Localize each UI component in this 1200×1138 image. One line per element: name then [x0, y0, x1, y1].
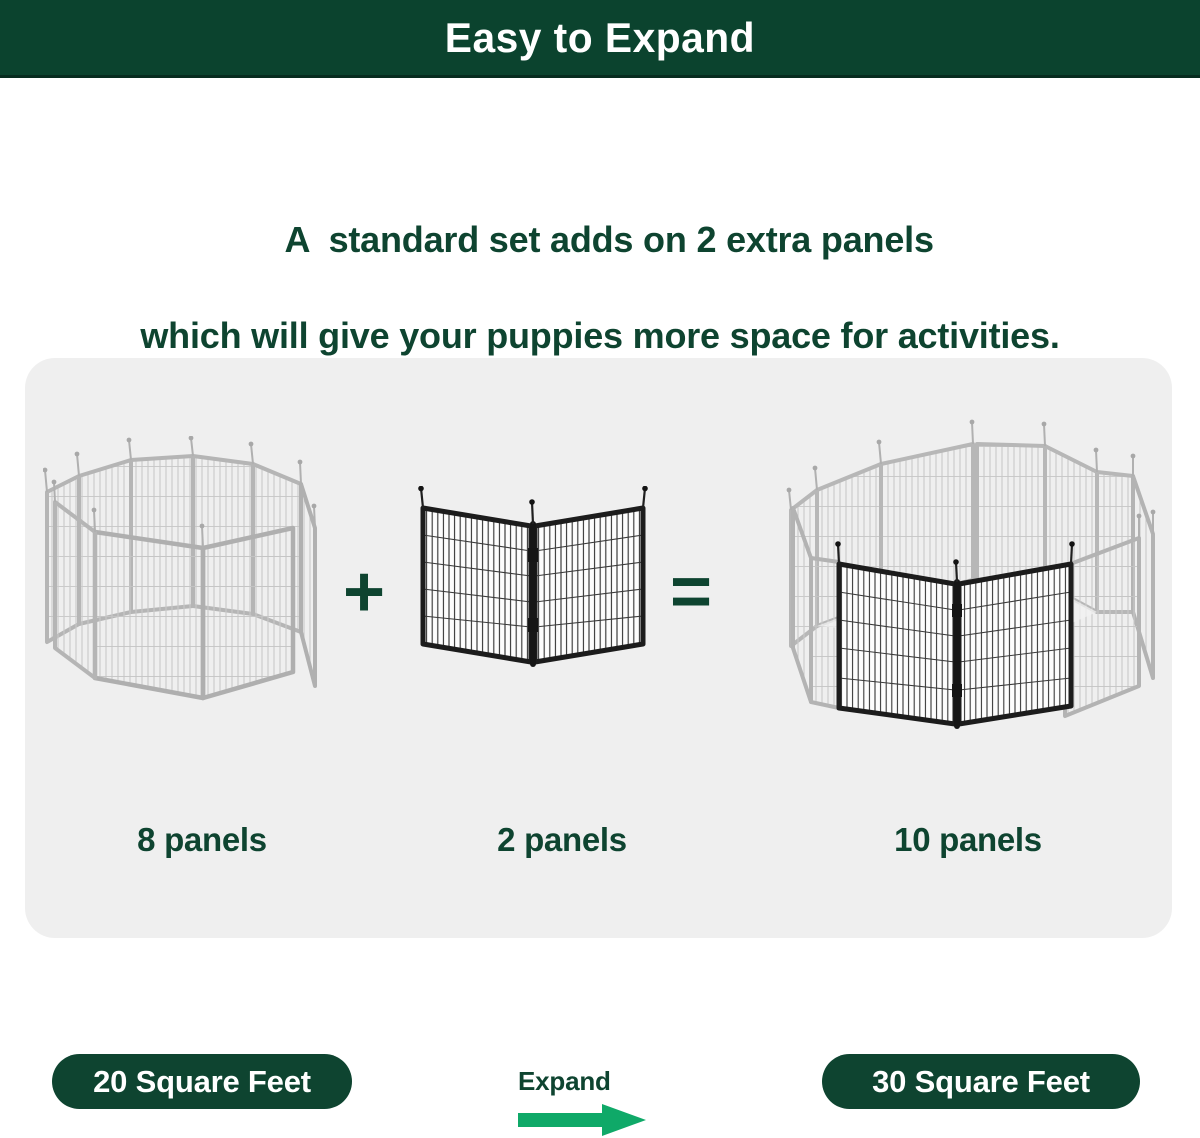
playpen-8-panels-figure	[43, 436, 343, 726]
equals-operator-icon: =	[670, 556, 712, 628]
badge-20-square-feet: 20 Square Feet	[52, 1054, 352, 1109]
badge-30-square-feet: 30 Square Feet	[822, 1054, 1140, 1109]
page-header: Easy to Expand	[0, 0, 1200, 78]
arrow-right-icon	[516, 1102, 648, 1138]
subtitle-line-2: which will give your puppies more space …	[0, 312, 1200, 360]
caption-2-panels: 2 panels	[457, 820, 667, 860]
caption-8-panels: 8 panels	[97, 820, 307, 860]
footer-row: 20 Square Feet Expand 30 Square Feet	[0, 1040, 1200, 1118]
panel-caption-row: 8 panels 2 panels 10 panels	[25, 820, 1172, 870]
playpen-2-panels-figure	[407, 486, 657, 676]
expand-label: Expand	[518, 1068, 611, 1094]
illustration-card: +	[25, 358, 1172, 938]
caption-10-panels: 10 panels	[858, 820, 1078, 860]
page-title: Easy to Expand	[445, 17, 755, 59]
subtitle-line-1: A standard set adds on 2 extra panels	[285, 219, 934, 260]
expand-indicator: Expand	[510, 1040, 650, 1118]
illustration-stage: +	[25, 358, 1172, 938]
playpen-10-panels-figure	[777, 416, 1167, 746]
plus-operator-icon: +	[343, 556, 385, 628]
